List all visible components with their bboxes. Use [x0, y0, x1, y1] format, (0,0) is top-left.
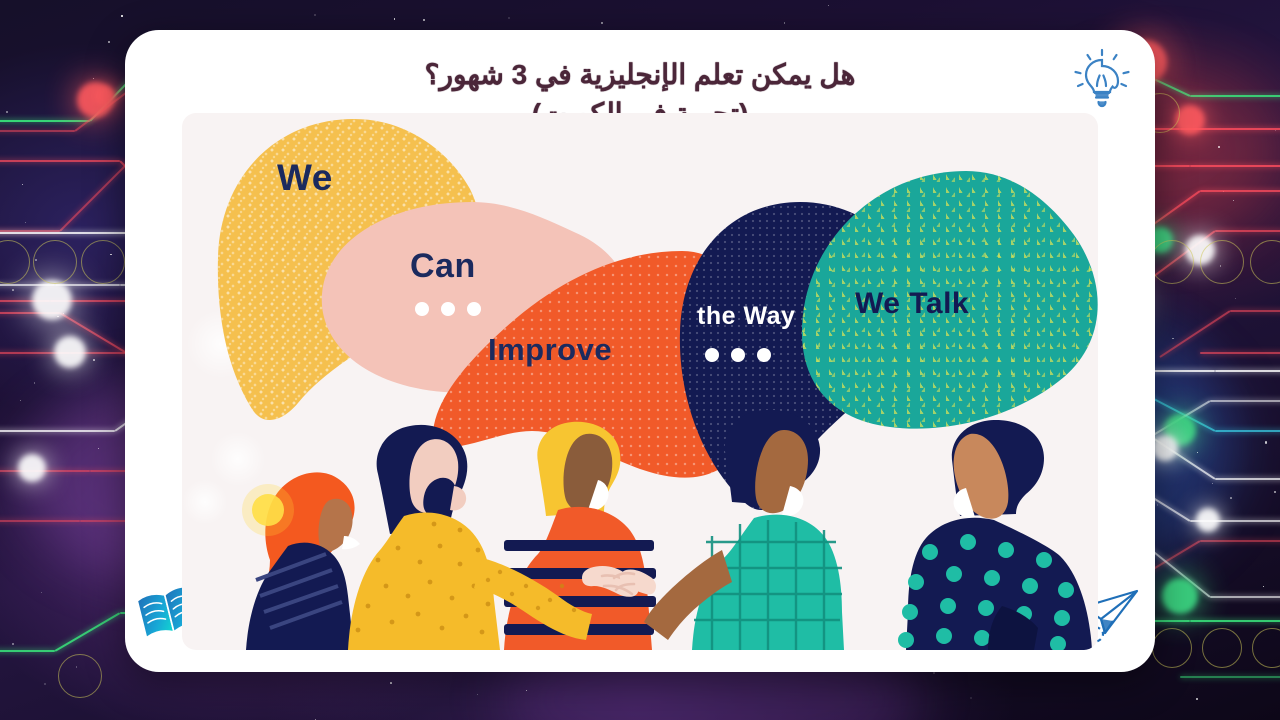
- star: [93, 359, 95, 361]
- illustration-canvas: We Can: [182, 113, 1098, 650]
- circuit-line: [1150, 370, 1215, 372]
- circuit-ring: [1200, 240, 1244, 284]
- bubble-label-we: We: [277, 157, 333, 199]
- title-line-1: هل يمكن تعلم الإنجليزية في 3 شهور؟: [425, 59, 856, 90]
- star: [108, 41, 110, 43]
- star: [1197, 452, 1198, 453]
- glow-dot: [1162, 578, 1198, 614]
- star: [1265, 441, 1267, 443]
- star: [1230, 497, 1232, 499]
- glow-dot: [18, 454, 46, 482]
- circuit-line: [1215, 478, 1280, 480]
- circuit-line: [1210, 400, 1280, 402]
- person-1: [242, 472, 360, 650]
- circuit-line: [0, 120, 90, 122]
- star: [20, 400, 21, 401]
- content-card: هل يمكن تعلم الإنجليزية في 3 شهور؟ (تجرب…: [125, 30, 1155, 672]
- circuit-line: [1230, 310, 1280, 312]
- star: [34, 382, 35, 383]
- glow-dot: [1196, 508, 1220, 532]
- circuit-line: [1210, 596, 1280, 598]
- circuit-line: [1215, 230, 1280, 232]
- circuit-line: [1180, 676, 1280, 678]
- circuit-line: [1215, 370, 1280, 372]
- lightbulb-icon: [1071, 44, 1133, 119]
- circuit-line: [1200, 190, 1280, 192]
- circuit-line: [1190, 165, 1280, 167]
- bubble-label-the-way: the Way: [697, 302, 795, 331]
- person-3: [474, 422, 656, 650]
- circuit-line: [1215, 430, 1280, 432]
- circuit-line: [0, 430, 115, 432]
- star: [6, 111, 8, 113]
- circuit-ring: [58, 654, 102, 698]
- person-5: [898, 420, 1092, 650]
- star: [25, 222, 26, 223]
- circuit-ring: [1202, 628, 1242, 668]
- star: [1218, 146, 1220, 148]
- glow-dot: [32, 280, 72, 320]
- bubble-dots-the-way: [705, 348, 771, 362]
- people-group: [182, 390, 1098, 650]
- star: [526, 690, 527, 691]
- glow-dot: [1152, 435, 1178, 461]
- circuit-line: [1190, 95, 1280, 97]
- circuit-ring: [33, 240, 77, 284]
- circuit-line: [1200, 540, 1280, 542]
- bubble-label-improve: Improve: [488, 332, 612, 368]
- star: [601, 22, 602, 23]
- star: [12, 643, 14, 645]
- circuit-line: [1200, 352, 1280, 354]
- glow-dot: [95, 86, 115, 106]
- circuit-line: [0, 160, 120, 162]
- star: [1274, 491, 1276, 493]
- star: [22, 184, 23, 185]
- star: [1235, 298, 1236, 299]
- circuit-line: [0, 520, 80, 522]
- star: [1196, 698, 1198, 700]
- circuit-ring: [1150, 240, 1194, 284]
- circuit-ring: [81, 240, 125, 284]
- circuit-line: [1190, 620, 1280, 622]
- glow-dot: [54, 336, 86, 368]
- circuit-line: [0, 130, 75, 132]
- circuit-line: [0, 650, 55, 652]
- bubble-label-we-talk: We Talk: [855, 287, 969, 321]
- star: [121, 15, 122, 16]
- star: [828, 5, 829, 6]
- person-2: [348, 425, 500, 650]
- circuit-ring: [1152, 628, 1192, 668]
